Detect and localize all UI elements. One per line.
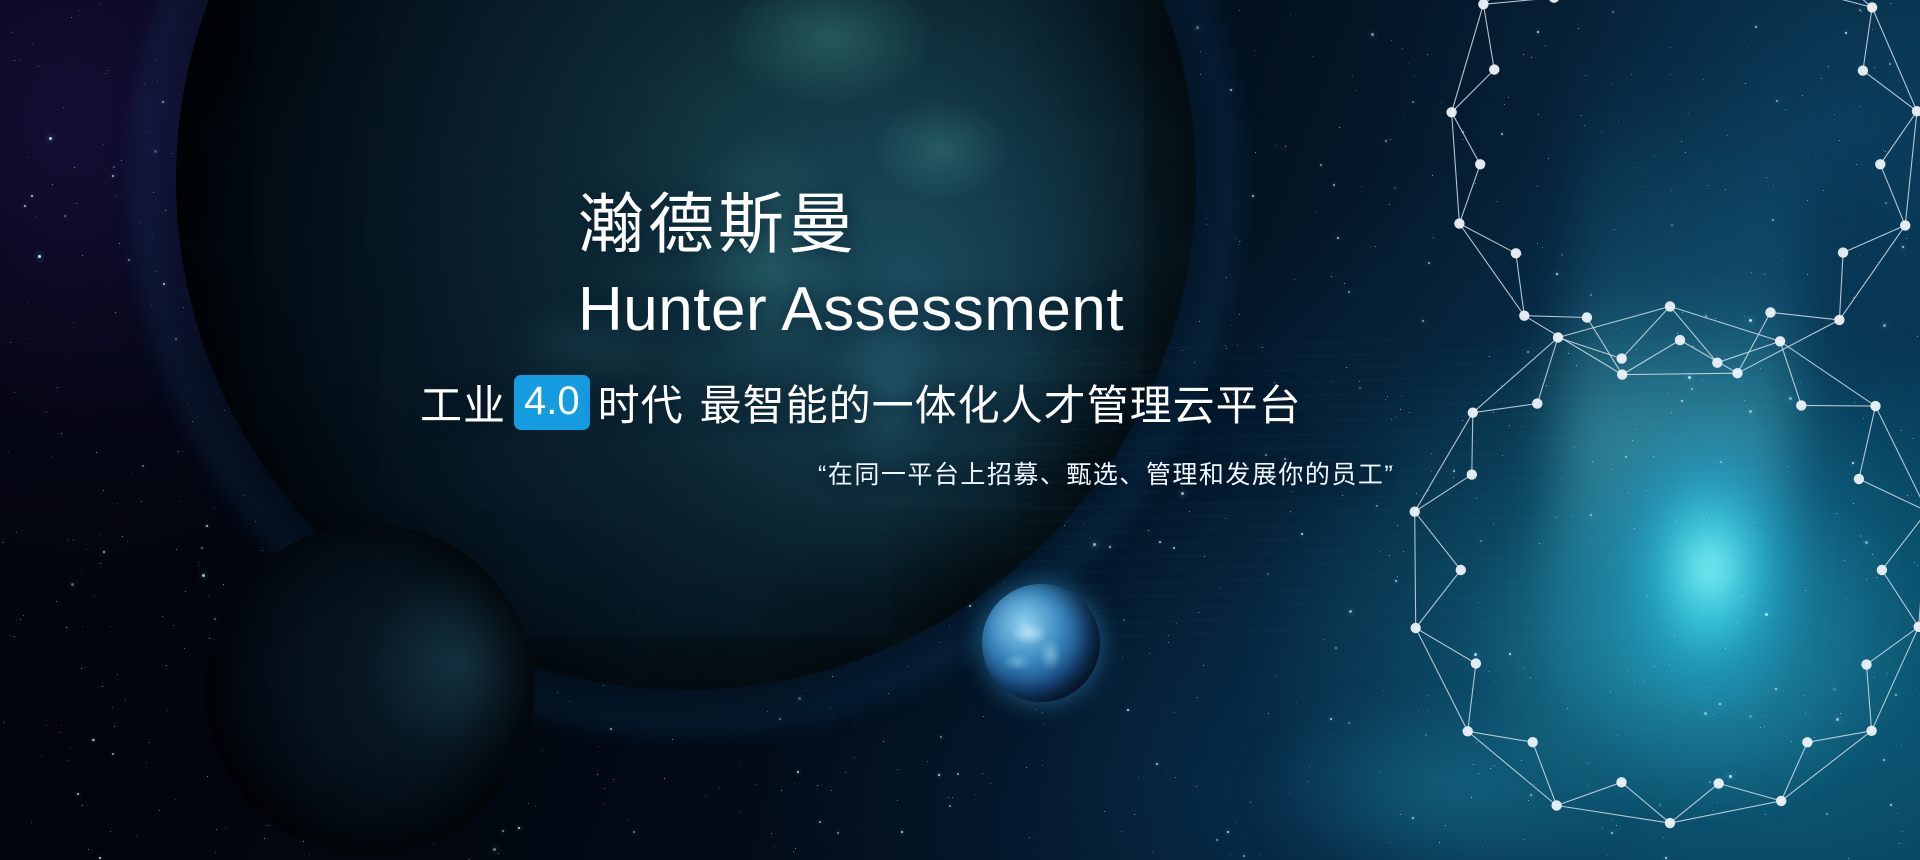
subline-prefix: 工业 <box>420 372 506 433</box>
hero-tagline: “在同一平台上招募、甄选、管理和发展你的员工” <box>818 455 1578 491</box>
subline-suffix: 最智能的一体化人才管理云平台 <box>700 372 1302 433</box>
industry-version-badge: 4.0 <box>514 375 590 430</box>
brand-title-cn: 瀚德斯曼 <box>578 186 1578 263</box>
blue-moon-planet <box>982 584 1100 702</box>
subline-middle: 时代 <box>598 372 684 433</box>
hero-banner: 瀚德斯曼 Hunter Assessment 工业 4.0 时代 最智能的一体化… <box>0 0 1920 860</box>
hero-copy: 瀚德斯曼 Hunter Assessment 工业 4.0 时代 最智能的一体化… <box>578 186 1578 491</box>
blue-moon-texture <box>982 584 1100 702</box>
hero-subline: 工业 4.0 时代 最智能的一体化人才管理云平台 <box>420 372 1578 433</box>
dark-moon-planet <box>205 524 535 854</box>
brand-title-en: Hunter Assessment <box>578 273 1578 346</box>
